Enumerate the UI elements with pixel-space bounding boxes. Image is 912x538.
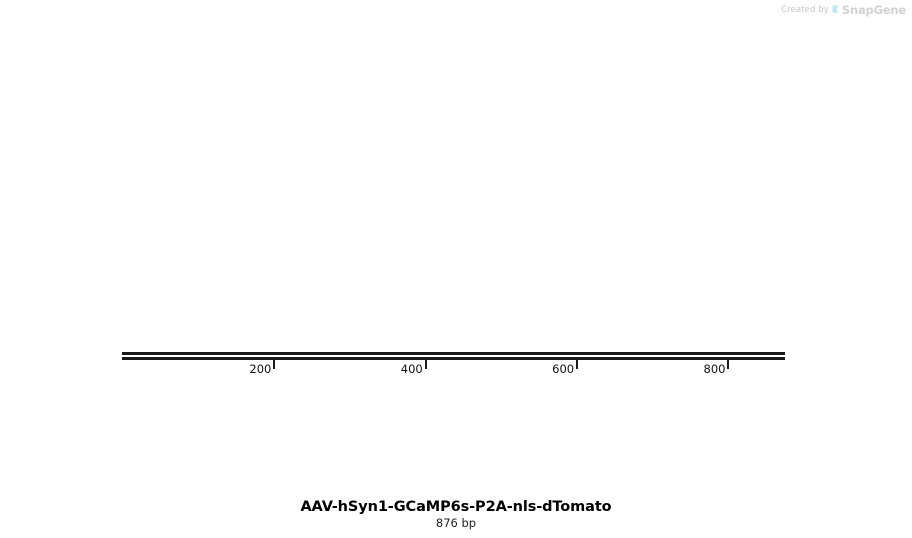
snapgene-brand-label: SnapGene bbox=[842, 3, 906, 17]
ruler-label-200: 200 bbox=[249, 362, 271, 376]
page-title: AAV-hSyn1-GCaMP6s-P2A-nls-dTomato bbox=[0, 499, 912, 515]
snapgene-credit: Created by SnapGene bbox=[781, 3, 906, 17]
created-by-label: Created by bbox=[781, 5, 829, 15]
snapgene-flag-icon bbox=[832, 5, 839, 16]
ruler-tick-400 bbox=[425, 360, 427, 369]
snapgene-map-canvas: Created by SnapGene 200400600800 AAV-hSy… bbox=[0, 0, 912, 538]
sequence-length: 876 bp bbox=[0, 516, 912, 530]
ruler-tick-200 bbox=[273, 360, 275, 369]
backbone-line-top bbox=[122, 352, 785, 355]
ruler-label-600: 600 bbox=[552, 362, 574, 376]
ruler-label-800: 800 bbox=[704, 362, 726, 376]
ruler-label-400: 400 bbox=[401, 362, 423, 376]
backbone-line-bottom bbox=[122, 357, 785, 360]
ruler-tick-800 bbox=[727, 360, 729, 369]
ruler-tick-600 bbox=[576, 360, 578, 369]
